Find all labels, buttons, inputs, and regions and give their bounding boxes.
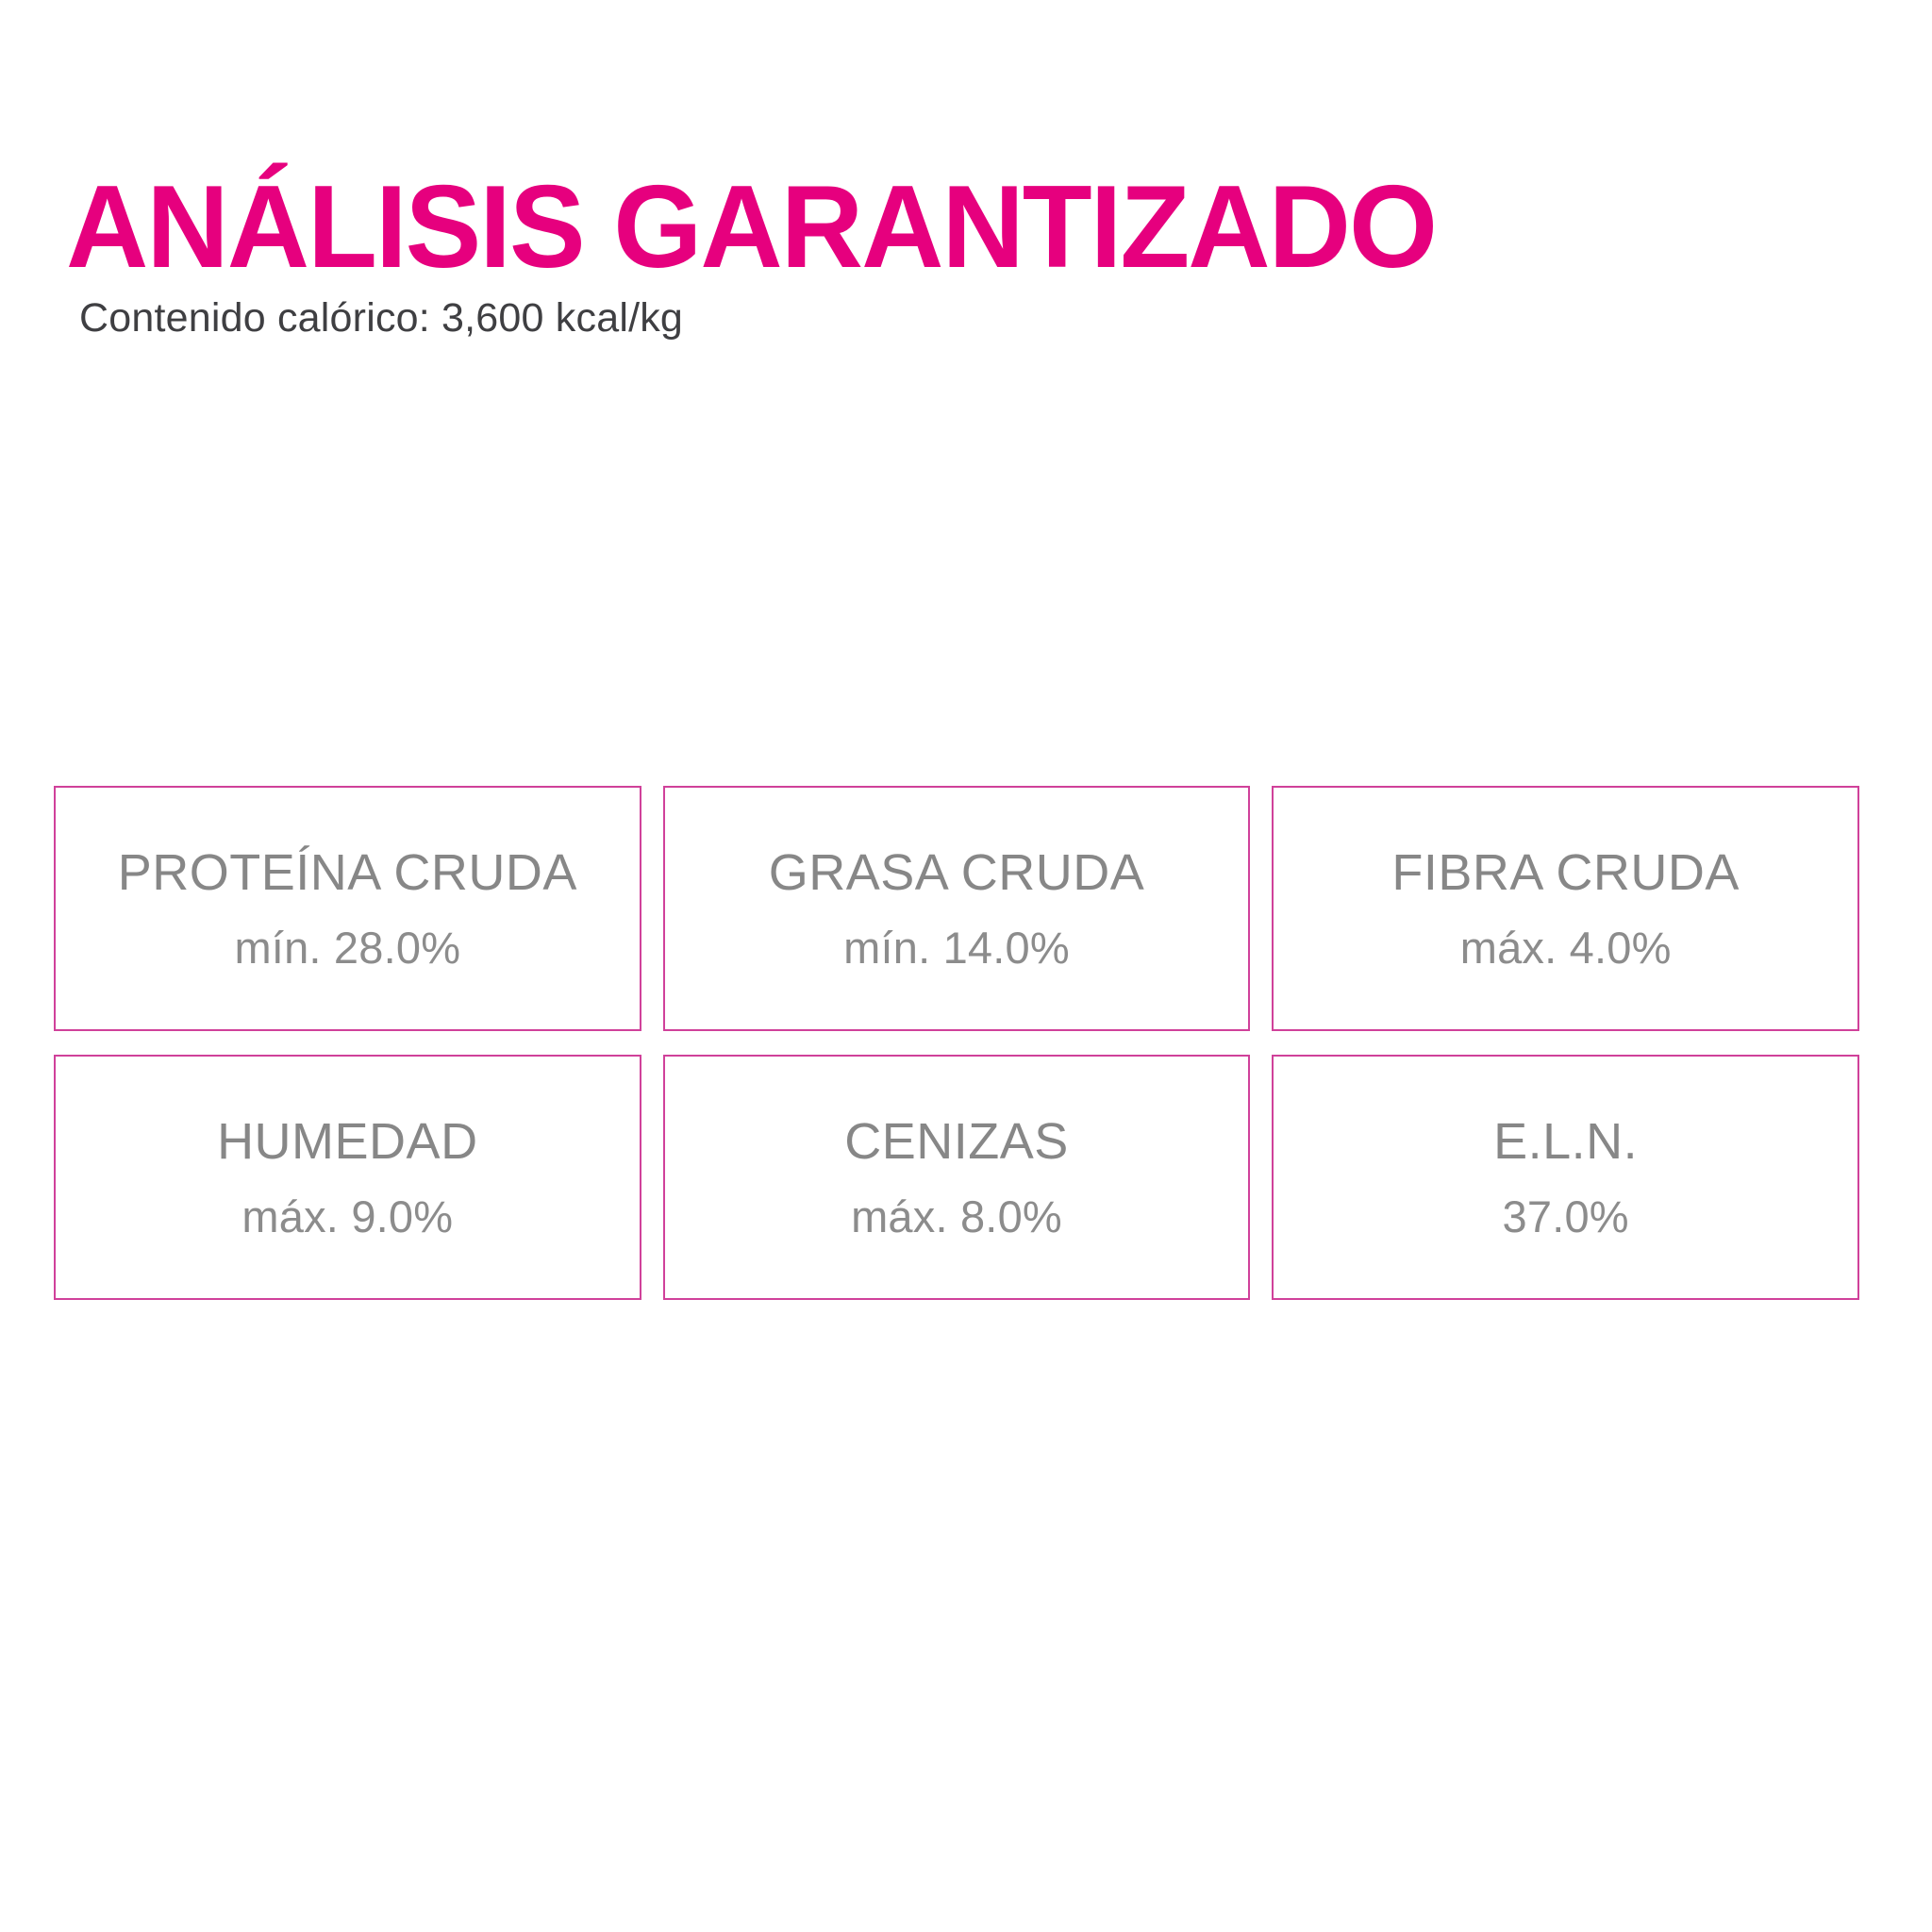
nutrient-value: mín. 28.0%	[234, 924, 460, 971]
caloric-content-text: Contenido calórico: 3,600 kcal/kg	[79, 292, 683, 345]
nutrient-label: FIBRA CRUDA	[1391, 846, 1740, 900]
nutrient-label: CENIZAS	[844, 1115, 1069, 1169]
nutrient-value: mín. 14.0%	[843, 924, 1070, 971]
nutrient-label: E.L.N.	[1493, 1115, 1638, 1169]
nutrient-card-eln: E.L.N. 37.0%	[1272, 1055, 1859, 1300]
nutrient-card-protein: PROTEÍNA CRUDA mín. 28.0%	[54, 786, 641, 1031]
nutrient-card-grid: PROTEÍNA CRUDA mín. 28.0% GRASA CRUDA mí…	[54, 786, 1859, 1300]
nutrient-label: HUMEDAD	[217, 1115, 478, 1169]
nutrient-card-ash: CENIZAS máx. 8.0%	[663, 1055, 1251, 1300]
nutrient-value: máx. 9.0%	[241, 1193, 453, 1240]
nutrient-value: máx. 8.0%	[851, 1193, 1062, 1240]
page-title: ANÁLISIS GARANTIZADO	[66, 169, 1436, 286]
nutrient-card-fiber: FIBRA CRUDA máx. 4.0%	[1272, 786, 1859, 1031]
nutrient-card-fat: GRASA CRUDA mín. 14.0%	[663, 786, 1251, 1031]
guaranteed-analysis-panel: ANÁLISIS GARANTIZADO Contenido calórico:…	[0, 0, 1932, 1932]
nutrient-label: GRASA CRUDA	[769, 846, 1145, 900]
nutrient-value: máx. 4.0%	[1460, 924, 1672, 971]
nutrient-card-moisture: HUMEDAD máx. 9.0%	[54, 1055, 641, 1300]
nutrient-label: PROTEÍNA CRUDA	[118, 846, 577, 900]
nutrient-value: 37.0%	[1503, 1193, 1629, 1240]
